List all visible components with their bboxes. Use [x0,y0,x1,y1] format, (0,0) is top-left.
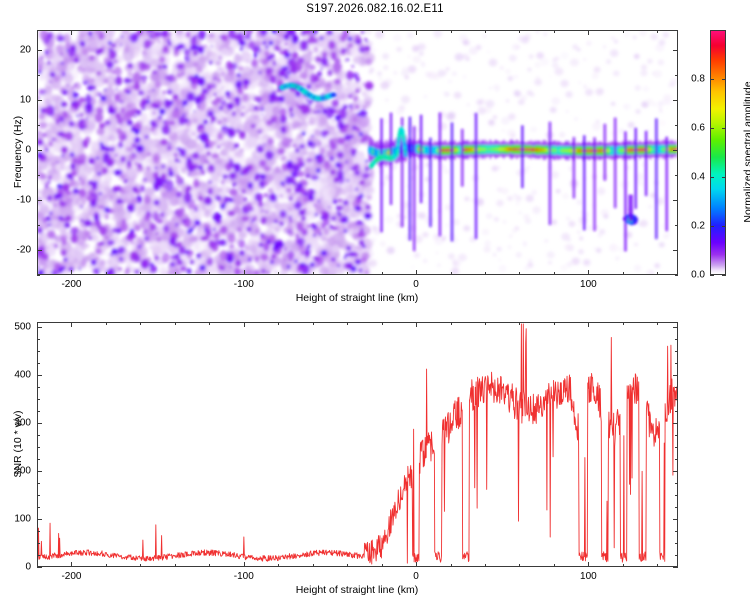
snr-ytick-right [675,339,678,340]
snr-xticklabel: -200 [61,571,81,582]
spectrogram-xtick [140,272,141,275]
spectrogram-xtick-top [382,30,383,33]
snr-xtick-top [244,322,245,327]
spectrogram-ytick [37,75,40,76]
spectrogram-ytick-right [673,100,678,101]
figure-title: S197.2026.082.16.02.E11 [0,3,750,15]
snr-yticklabel: 0 [25,562,31,573]
spectrogram-yticklabel: 20 [20,45,31,56]
snr-ytick [37,435,40,436]
snr-xtick [623,564,624,567]
snr-ytick [37,351,40,352]
spectrogram-ytick [37,200,42,201]
snr-ytick [37,555,40,556]
spectrogram-xtick-top [657,30,658,33]
spectrogram-ytick [37,50,42,51]
spectrogram-xtick-top [209,30,210,33]
colorbar-tick-right [722,177,726,178]
spectrogram-xtick-top [451,30,452,33]
snr-xtick [382,564,383,567]
snr-xtick-top [588,322,589,327]
snr-xtick-top [416,322,417,327]
snr-ylabel: SNR (10 * v/v) [12,410,24,477]
spectrogram-yticklabel: 10 [20,95,31,106]
spectrogram-ytick [37,250,42,251]
spectrogram-ytick [37,125,40,126]
snr-ytick-right [675,495,678,496]
spectrogram-ytick [37,150,42,151]
snr-xlabel: Height of straight line (km) [296,584,419,596]
snr-xtick-top [278,322,279,325]
spectrogram-xtick-top [71,30,72,35]
spectrogram-xtick [71,270,72,275]
spectrogram-xtick-top [623,30,624,33]
snr-yticklabel: 100 [14,513,31,524]
snr-ytick-right [675,435,678,436]
snr-xtick [71,562,72,567]
snr-xticklabel: 0 [413,571,419,582]
spectrogram-xtick-top [106,30,107,33]
snr-ytick-right [675,447,678,448]
snr-xtick-top [554,322,555,325]
snr-xticklabel: 100 [580,571,597,582]
spectrogram-xtick [519,272,520,275]
spectrogram-xtick [382,272,383,275]
spectrogram-xtick [588,270,589,275]
spectrogram-xtick [347,272,348,275]
spectrogram-ytick-right [673,250,678,251]
snr-ytick [37,543,40,544]
snr-ytick-right [675,507,678,508]
snr-xtick [451,564,452,567]
spectrogram-xtick-top [416,30,417,35]
colorbar-tick-right [722,275,726,276]
snr-ytick-right [673,519,678,520]
spectrogram-ytick-right [675,225,678,226]
snr-ytick [37,519,42,520]
snr-xtick [588,562,589,567]
spectrogram-ytick-right [675,275,678,276]
spectrogram-xtick [554,272,555,275]
spectrogram-xtick [175,272,176,275]
colorbar-tick-right [722,226,726,227]
spectrogram-xtick-top [278,30,279,33]
snr-xtick [140,564,141,567]
spectrogram-xtick-top [485,30,486,33]
spectrogram-yticklabel: -20 [17,245,31,256]
spectrogram-ytick [37,225,40,226]
spectrogram-ytick [37,175,40,176]
colorbar-tick [710,226,714,227]
colorbar-tick [710,275,714,276]
spectrogram-xticklabel: -200 [61,279,81,290]
spectrogram-ylabel: Frequency (Hz) [12,116,24,188]
spectrogram-xlabel: Height of straight line (km) [296,292,419,304]
snr-yticklabel: 500 [14,321,31,332]
snr-xtick [485,564,486,567]
snr-xtick [209,564,210,567]
snr-xtick [554,564,555,567]
snr-yticklabel: 400 [14,369,31,380]
colorbar-tick [710,177,714,178]
snr-ytick [37,495,40,496]
spectrogram-xtick [451,272,452,275]
echo-trace-group [279,83,677,251]
spectrogram-xticklabel: -100 [234,279,254,290]
spectrogram-xticklabel: 0 [413,279,419,290]
snr-ytick-right [675,543,678,544]
snr-xtick [313,564,314,567]
spectrogram-ytick-right [675,75,678,76]
snr-xtick-top [175,322,176,325]
snr-ytick-right [675,399,678,400]
spectrogram-plot-area[interactable] [37,30,678,275]
spectrogram-xticklabel: 100 [580,279,597,290]
spectrogram-signal-layer [38,31,677,274]
snr-xtick [519,564,520,567]
snr-ytick-right [675,411,678,412]
snr-xtick-top [37,322,38,325]
colorbar[interactable] [710,30,726,275]
spectrogram-yticklabel: 0 [25,145,31,156]
colorbar-tick-right [722,79,726,80]
spectrogram-ytick-right [673,150,678,151]
snr-ytick-right [673,375,678,376]
snr-ytick [37,375,42,376]
spectrogram-ytick-right [673,200,678,201]
colorbar-ticklabel: 0.8 [691,74,705,85]
spectrogram-xtick [278,272,279,275]
spectrogram-xtick-top [37,30,38,33]
spectrogram-xtick-top [140,30,141,33]
snr-ytick [37,387,40,388]
snr-xtick-top [485,322,486,325]
spectrogram-xtick [657,272,658,275]
snr-xtick-top [313,322,314,325]
snr-ytick-right [675,531,678,532]
snr-line-layer [38,323,677,566]
snr-ytick [37,531,40,532]
snr-xtick [175,564,176,567]
snr-ytick-right [675,363,678,364]
snr-ytick-right [673,471,678,472]
snr-plot-area[interactable] [37,322,678,567]
figure-canvas: S197.2026.082.16.02.E11 -200-10001002010… [0,0,750,600]
snr-trace [38,324,677,564]
snr-ytick [37,483,40,484]
spectrogram-xtick [244,270,245,275]
spectrogram-xtick [623,272,624,275]
snr-ytick [37,363,40,364]
snr-xtick [347,564,348,567]
snr-xtick-top [209,322,210,325]
snr-xtick-top [519,322,520,325]
colorbar-tick [710,128,714,129]
snr-ytick [37,411,40,412]
snr-xtick-top [623,322,624,325]
snr-xtick [416,562,417,567]
spectrogram-ytick-right [675,125,678,126]
spectrogram-xtick [313,272,314,275]
snr-ytick-right [673,567,678,568]
colorbar-ticklabel: 0.6 [691,123,705,134]
colorbar-ticklabel: 0.0 [691,270,705,281]
snr-ytick [37,399,40,400]
snr-ytick-right [673,327,678,328]
snr-ytick-right [673,423,678,424]
snr-xtick [106,564,107,567]
snr-ytick-right [675,387,678,388]
snr-xtick-top [451,322,452,325]
spectrogram-yticklabel: -10 [17,195,31,206]
spectrogram-xtick-top [554,30,555,33]
snr-ytick [37,459,40,460]
colorbar-label: Normalized spectral amplitude [742,81,750,222]
snr-xtick-top [347,322,348,325]
spectrogram-ytick [37,100,42,101]
spectrogram-ytick-right [673,50,678,51]
spectrogram-xtick-top [347,30,348,33]
snr-xtick-top [140,322,141,325]
snr-xtick [278,564,279,567]
snr-ytick [37,423,42,424]
snr-ytick-right [675,459,678,460]
spectrogram-ytick [37,275,40,276]
spectrogram-xtick-top [313,30,314,33]
spectrogram-xtick [416,270,417,275]
snr-xtick-top [106,322,107,325]
spectrogram-xtick-top [244,30,245,35]
spectrogram-xtick [485,272,486,275]
spectrogram-ytick-right [675,175,678,176]
snr-xtick-top [71,322,72,327]
snr-ytick-right [675,555,678,556]
snr-xticklabel: -100 [234,571,254,582]
spectrogram-xtick-top [519,30,520,33]
snr-xtick [657,564,658,567]
colorbar-ticklabel: 0.4 [691,172,705,183]
snr-ytick [37,447,40,448]
snr-xtick-top [657,322,658,325]
snr-ytick-right [675,351,678,352]
snr-xtick [244,562,245,567]
snr-ytick [37,327,42,328]
colorbar-tick [710,79,714,80]
spectrogram-xtick-top [175,30,176,33]
snr-ytick [37,567,42,568]
colorbar-ticklabel: 0.2 [691,221,705,232]
snr-ytick [37,471,42,472]
snr-ytick [37,339,40,340]
snr-ytick-right [675,483,678,484]
colorbar-tick-right [722,128,726,129]
spectrogram-xtick-top [588,30,589,35]
spectrogram-xtick [106,272,107,275]
snr-xtick-top [382,322,383,325]
spectrogram-xtick [209,272,210,275]
snr-ytick [37,507,40,508]
